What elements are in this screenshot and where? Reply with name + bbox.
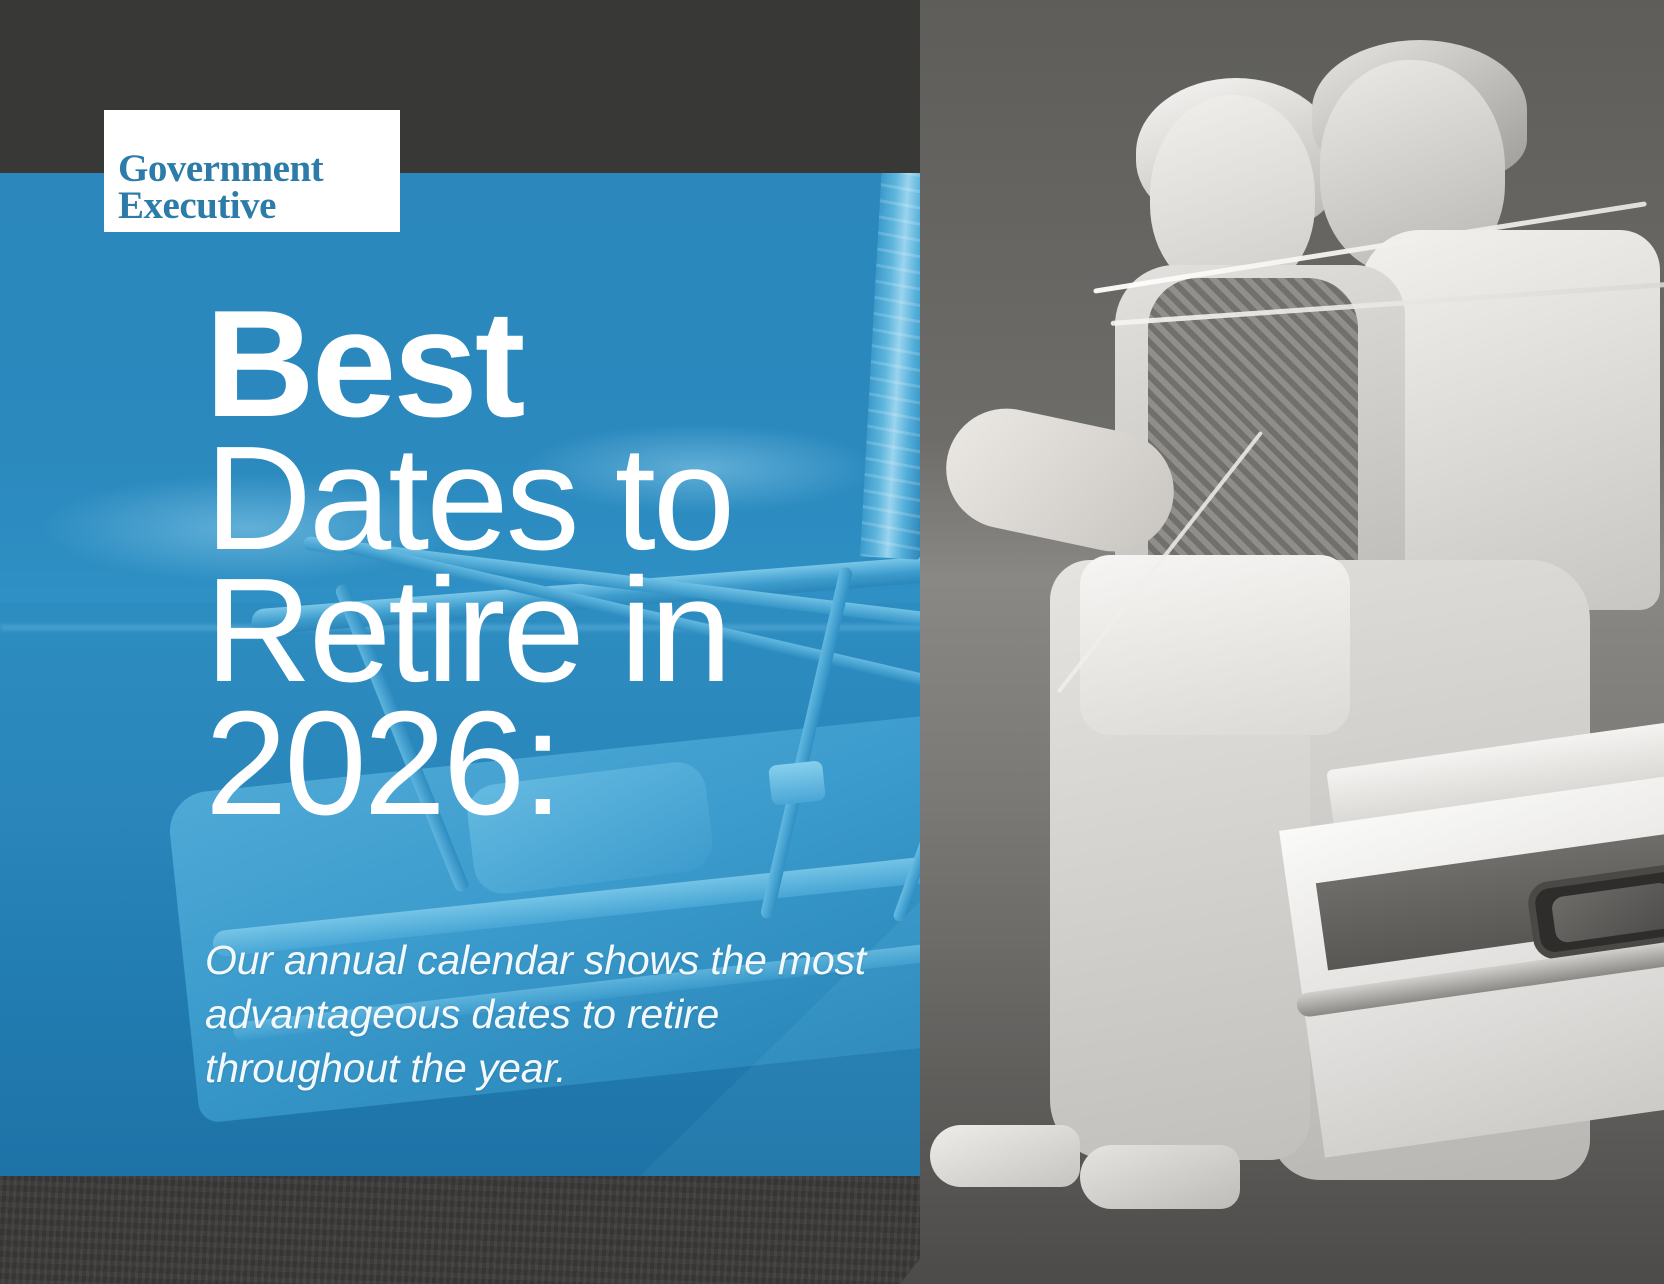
page-title: Best Dates to Retire in 2026: [205, 295, 965, 835]
government-executive-logo[interactable]: Government Executive [104, 110, 400, 232]
bottom-dark-band [0, 1176, 1664, 1284]
subtitle-text: Our annual calendar shows the most advan… [205, 933, 905, 1095]
cover-page: Government Executive Best Dates to Retir… [0, 0, 1664, 1284]
logo-wordmark: Government Executive [118, 150, 323, 224]
headline-line-4: 2026: [205, 694, 965, 835]
headline-line-1: Best [205, 295, 965, 435]
